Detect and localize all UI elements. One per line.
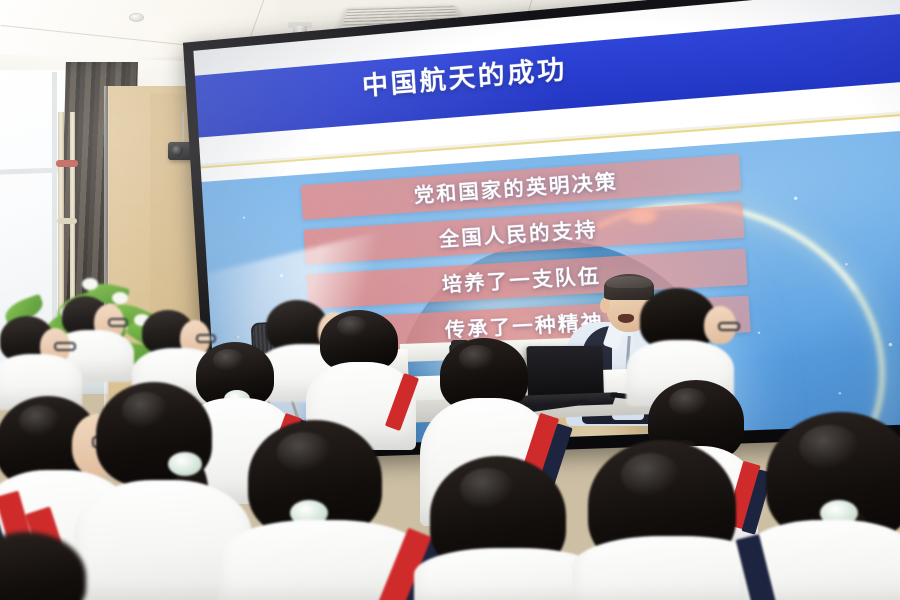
hair-scrunchie [168, 452, 202, 476]
slide-bullet-text: 培养了一支队伍 [441, 260, 602, 297]
student-glasses [196, 334, 216, 343]
camera-cable [182, 112, 184, 144]
speaker-ear [600, 298, 610, 313]
camera-lens-icon [172, 145, 183, 156]
student-glasses [54, 342, 76, 351]
pole-clip [57, 218, 77, 224]
pole-clip [56, 160, 78, 167]
student-glasses [718, 322, 740, 331]
classroom-photo-scene: 中国航天的成功 党和国家的英明决策 全国人民的支持 培养了一支队伍 传承了一种精… [0, 0, 900, 600]
speaker-mouth [618, 314, 634, 323]
ceiling-downlight-icon [130, 14, 143, 21]
slide-bullet-text: 全国人民的支持 [438, 214, 599, 252]
speaker-hair-highlight [606, 276, 652, 288]
student-glasses [108, 318, 128, 327]
